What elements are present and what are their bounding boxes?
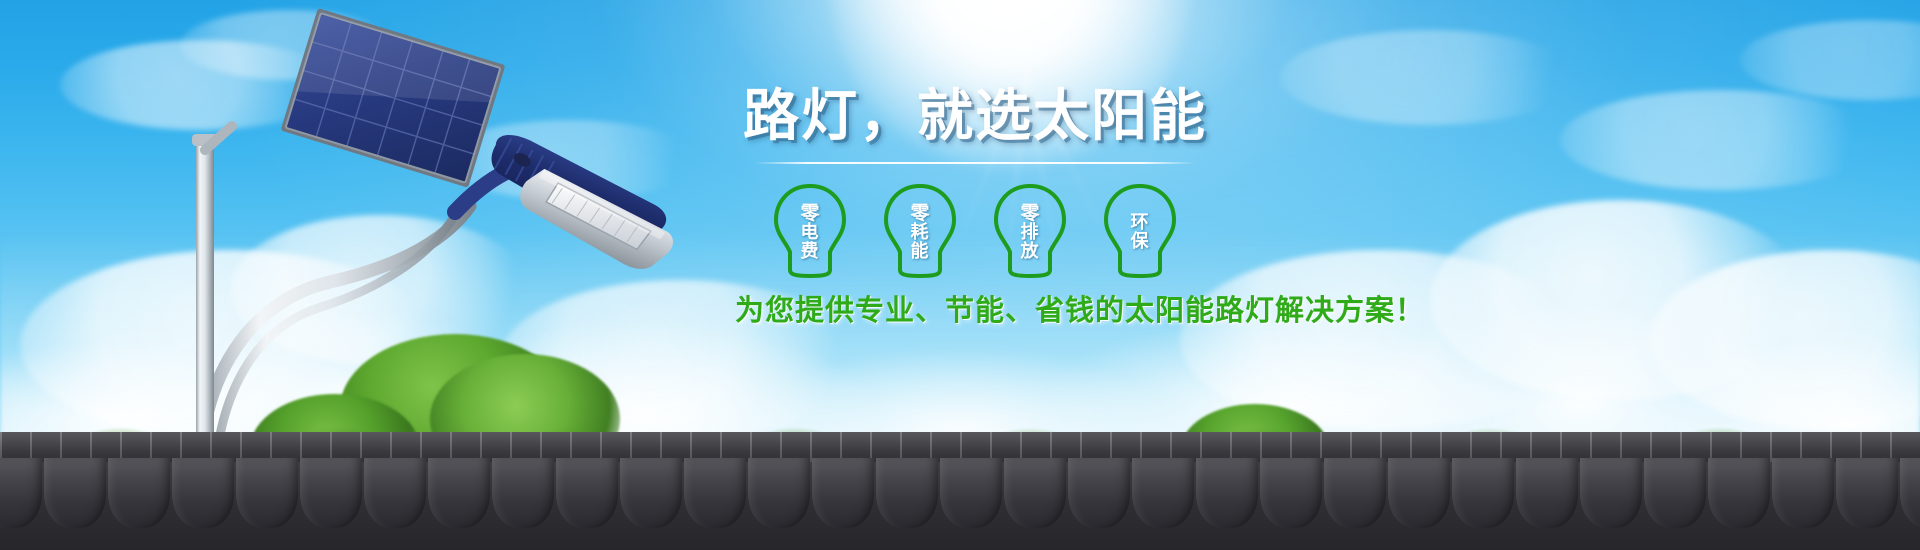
- roof-tile: [236, 458, 298, 528]
- roof-tile: [1068, 458, 1130, 528]
- badge-label-line1: 排: [1021, 223, 1040, 242]
- roof-tile: [1644, 458, 1706, 528]
- solar-streetlight-banner: 路灯，就选太阳能 零 电 费: [0, 0, 1920, 550]
- roof-tile: [620, 458, 682, 528]
- badge-top-char: 零: [1020, 204, 1039, 223]
- roof-tile: [0, 458, 42, 528]
- badge-label-line1: 耗: [911, 223, 930, 242]
- badge-label-line1: 环: [1131, 213, 1150, 232]
- page-title: 路灯，就选太阳能: [735, 86, 1215, 146]
- roof-tile: [1772, 458, 1834, 528]
- roof-tile: [748, 458, 810, 528]
- roof-tile: [940, 458, 1002, 528]
- feature-badge-list: 零 电 费 零 耗 能: [735, 182, 1215, 278]
- badge-label-line2: 放: [1021, 242, 1040, 261]
- roof-tile-row: [0, 458, 1920, 528]
- roof-tile: [812, 458, 874, 528]
- badge-eco-friendly[interactable]: 环 保: [1098, 182, 1182, 278]
- badge-label: 耗 能: [911, 223, 930, 261]
- badge-top-char: 零: [800, 204, 819, 223]
- badge-label-line1: 电: [801, 223, 820, 242]
- badge-label-line2: 费: [801, 242, 820, 261]
- badge-label: 环 保: [1131, 213, 1150, 251]
- roof-tile: [1516, 458, 1578, 528]
- badge-label: 电 费: [801, 223, 820, 261]
- roof-tile: [108, 458, 170, 528]
- badge-label: 排 放: [1021, 223, 1040, 261]
- roof-tile: [364, 458, 426, 528]
- roof-tile: [300, 458, 362, 528]
- badge-no-energy-use[interactable]: 零 耗 能: [878, 182, 962, 278]
- roof-tile: [1260, 458, 1322, 528]
- roof-tile: [1452, 458, 1514, 528]
- roof-tile: [1196, 458, 1258, 528]
- badge-label-line2: 保: [1131, 232, 1150, 251]
- badge-label-line2: 能: [911, 242, 930, 261]
- roof-tile: [684, 458, 746, 528]
- tiled-wall: [0, 432, 1920, 550]
- roof-tile: [1388, 458, 1450, 528]
- roof-tile: [1900, 458, 1920, 528]
- roof-tile: [492, 458, 554, 528]
- roof-tile: [1580, 458, 1642, 528]
- roof-tile: [1132, 458, 1194, 528]
- roof-tile: [1004, 458, 1066, 528]
- roof-tile: [1708, 458, 1770, 528]
- badge-no-electricity-fee[interactable]: 零 电 费: [768, 182, 852, 278]
- roof-tile: [428, 458, 490, 528]
- roof-tile: [1836, 458, 1898, 528]
- roof-tile: [1324, 458, 1386, 528]
- roof-tile: [44, 458, 106, 528]
- badge-top-char: 零: [910, 204, 929, 223]
- roof-tile: [876, 458, 938, 528]
- roof-tile: [556, 458, 618, 528]
- banner-tagline: 为您提供专业、节能、省钱的太阳能路灯解决方案！: [735, 296, 1215, 328]
- title-divider: [755, 162, 1195, 164]
- badge-no-emission[interactable]: 零 排 放: [988, 182, 1072, 278]
- roof-tile: [172, 458, 234, 528]
- banner-copy: 路灯，就选太阳能 零 电 费: [735, 86, 1215, 328]
